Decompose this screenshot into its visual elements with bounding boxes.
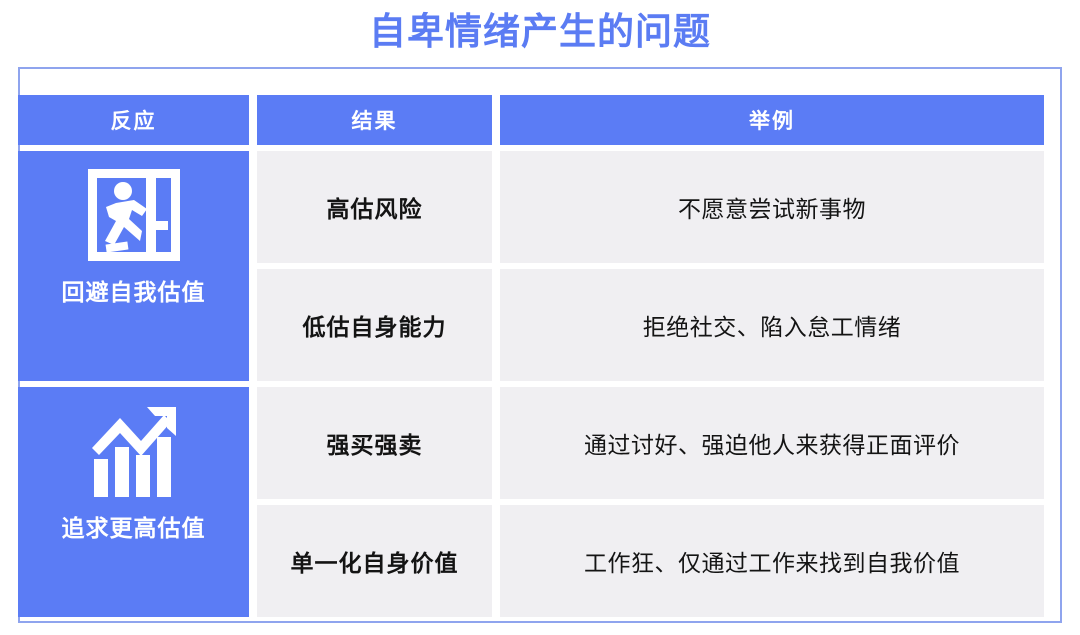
table-header-result: 结果 — [257, 95, 492, 145]
table-header-example: 举例 — [500, 95, 1044, 145]
category-label: 回避自我估值 — [62, 273, 206, 307]
category-cell-avoid-self-valuation: 回避自我估值 — [18, 151, 249, 381]
example-cell-1: 不愿意尝试新事物 — [500, 151, 1044, 263]
example-cell-2: 拒绝社交、陷入怠工情绪 — [500, 269, 1044, 381]
page-title: 自卑情绪产生的问题 — [0, 8, 1080, 56]
exit-running-person-icon — [82, 163, 186, 267]
example-cell-4: 工作狂、仅通过工作来找到自我价值 — [500, 505, 1044, 617]
result-cell-4: 单一化自身价值 — [257, 505, 492, 617]
table-header-reaction: 反应 — [18, 95, 249, 145]
growth-bar-chart-arrow-icon — [82, 399, 186, 503]
category-cell-pursue-higher-valuation: 追求更高估值 — [18, 387, 249, 617]
result-cell-3: 强买强卖 — [257, 387, 492, 499]
result-cell-2: 低估自身能力 — [257, 269, 492, 381]
category-label: 追求更高估值 — [62, 509, 206, 543]
example-cell-3: 通过讨好、强迫他人来获得正面评价 — [500, 387, 1044, 499]
result-cell-1: 高估风险 — [257, 151, 492, 263]
problems-table: 反应 结果 举例 回避自我估值 高估风险 不愿意尝试新事物 低估自身能力 拒绝社… — [18, 95, 1044, 595]
